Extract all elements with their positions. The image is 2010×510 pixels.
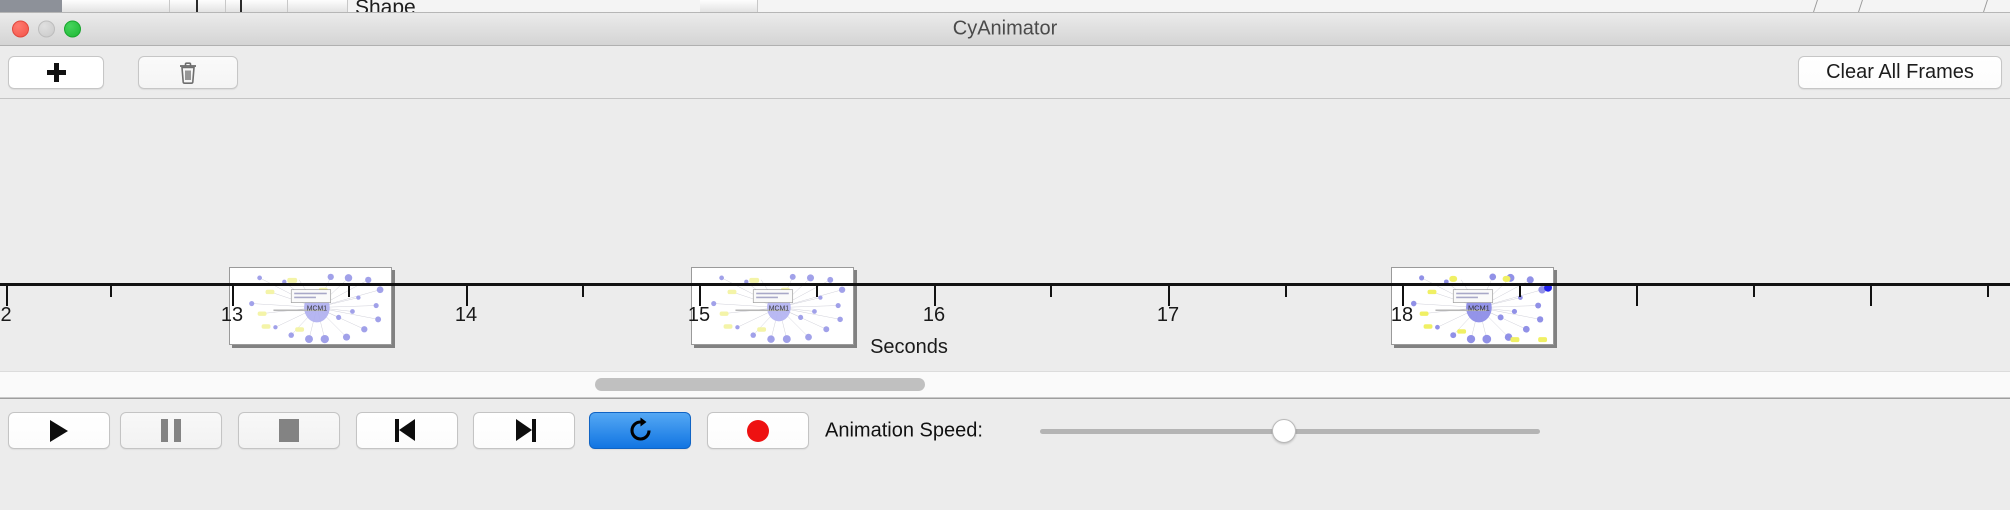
background-block <box>288 0 348 12</box>
add-frame-button[interactable] <box>8 56 104 89</box>
background-tick <box>196 0 198 12</box>
ruler-tick-major <box>6 286 8 306</box>
trash-icon <box>178 61 198 85</box>
background-block <box>170 0 226 12</box>
ruler-tick-minor <box>1285 286 1287 297</box>
ruler-tick-minor <box>1753 286 1755 297</box>
ruler-tick-label: 16 <box>923 304 945 327</box>
timeline-scrollbar-thumb[interactable] <box>595 378 925 391</box>
plus-icon <box>47 63 66 82</box>
background-app-strip: Shape <box>0 0 2010 12</box>
ruler-tick-label: 13 <box>221 304 243 327</box>
ruler-tick-major <box>466 286 468 306</box>
slider-thumb[interactable] <box>1272 419 1296 443</box>
ruler-tick-label: 17 <box>1157 304 1179 327</box>
ruler-tick-minor <box>1519 286 1521 297</box>
ruler-tick-label: 15 <box>688 304 710 327</box>
ruler-tick-minor <box>816 286 818 297</box>
ruler-tick-major <box>232 286 234 306</box>
background-block <box>226 0 288 12</box>
animation-speed-label: Animation Speed: <box>825 419 983 442</box>
clear-all-frames-label: Clear All Frames <box>1826 61 1974 84</box>
skip-to-start-button[interactable] <box>356 412 458 449</box>
ruler-tick-major <box>934 286 936 306</box>
ruler-tick-major <box>1636 286 1638 306</box>
pause-icon <box>161 419 181 442</box>
cyanimator-window: CyAnimator Clear All Frames <box>0 12 2010 510</box>
delete-frame-button[interactable] <box>138 56 238 89</box>
background-edge <box>1983 0 1988 12</box>
ruler-tick-minor <box>110 286 112 297</box>
ruler-tick-major <box>1870 286 1872 306</box>
background-tick <box>240 0 242 12</box>
pause-button[interactable] <box>120 412 222 449</box>
background-block <box>62 0 170 12</box>
ruler-axis-line <box>0 283 2010 286</box>
skip-to-end-button[interactable] <box>473 412 575 449</box>
background-block <box>700 0 758 12</box>
stop-button[interactable] <box>238 412 340 449</box>
stop-icon <box>279 419 299 442</box>
loop-icon <box>627 417 654 444</box>
ruler-tick-major <box>1402 286 1404 306</box>
ruler-axis-title: Seconds <box>0 336 1818 359</box>
ruler-tick-label: 2 <box>0 304 11 327</box>
timeline-panel[interactable]: MCM1 <box>0 99 2010 371</box>
record-button[interactable] <box>707 412 809 449</box>
ruler-tick-minor <box>348 286 350 297</box>
toolbar: Clear All Frames <box>0 46 2010 99</box>
ruler-tick-major <box>1168 286 1170 306</box>
ruler-tick-label: 14 <box>455 304 477 327</box>
background-partial-label: Shape <box>355 0 416 12</box>
animation-speed-slider[interactable] <box>1040 419 1540 443</box>
window-title: CyAnimator <box>0 18 2010 41</box>
timeline-scrollbar-track[interactable] <box>0 371 2010 398</box>
play-icon <box>50 420 68 442</box>
clear-all-frames-button[interactable]: Clear All Frames <box>1798 56 2002 89</box>
ruler-tick-minor <box>1050 286 1052 297</box>
background-edge <box>1858 0 1863 12</box>
skip-forward-icon <box>512 419 536 442</box>
ruler-tick-minor <box>1987 286 1989 297</box>
timeline-ruler[interactable]: 2 13 14 15 16 17 18 <box>0 283 2010 321</box>
ruler-tick-major <box>699 286 701 306</box>
transport-bar: Animation Speed: <box>0 398 2010 462</box>
skip-back-icon <box>395 419 419 442</box>
window-titlebar: CyAnimator <box>0 13 2010 46</box>
background-dark-block <box>0 0 62 12</box>
play-button[interactable] <box>8 412 110 449</box>
ruler-tick-label: 18 <box>1391 304 1413 327</box>
ruler-tick-minor <box>582 286 584 297</box>
record-icon <box>747 420 769 442</box>
background-edge <box>1813 0 1818 12</box>
loop-button[interactable] <box>589 412 691 449</box>
